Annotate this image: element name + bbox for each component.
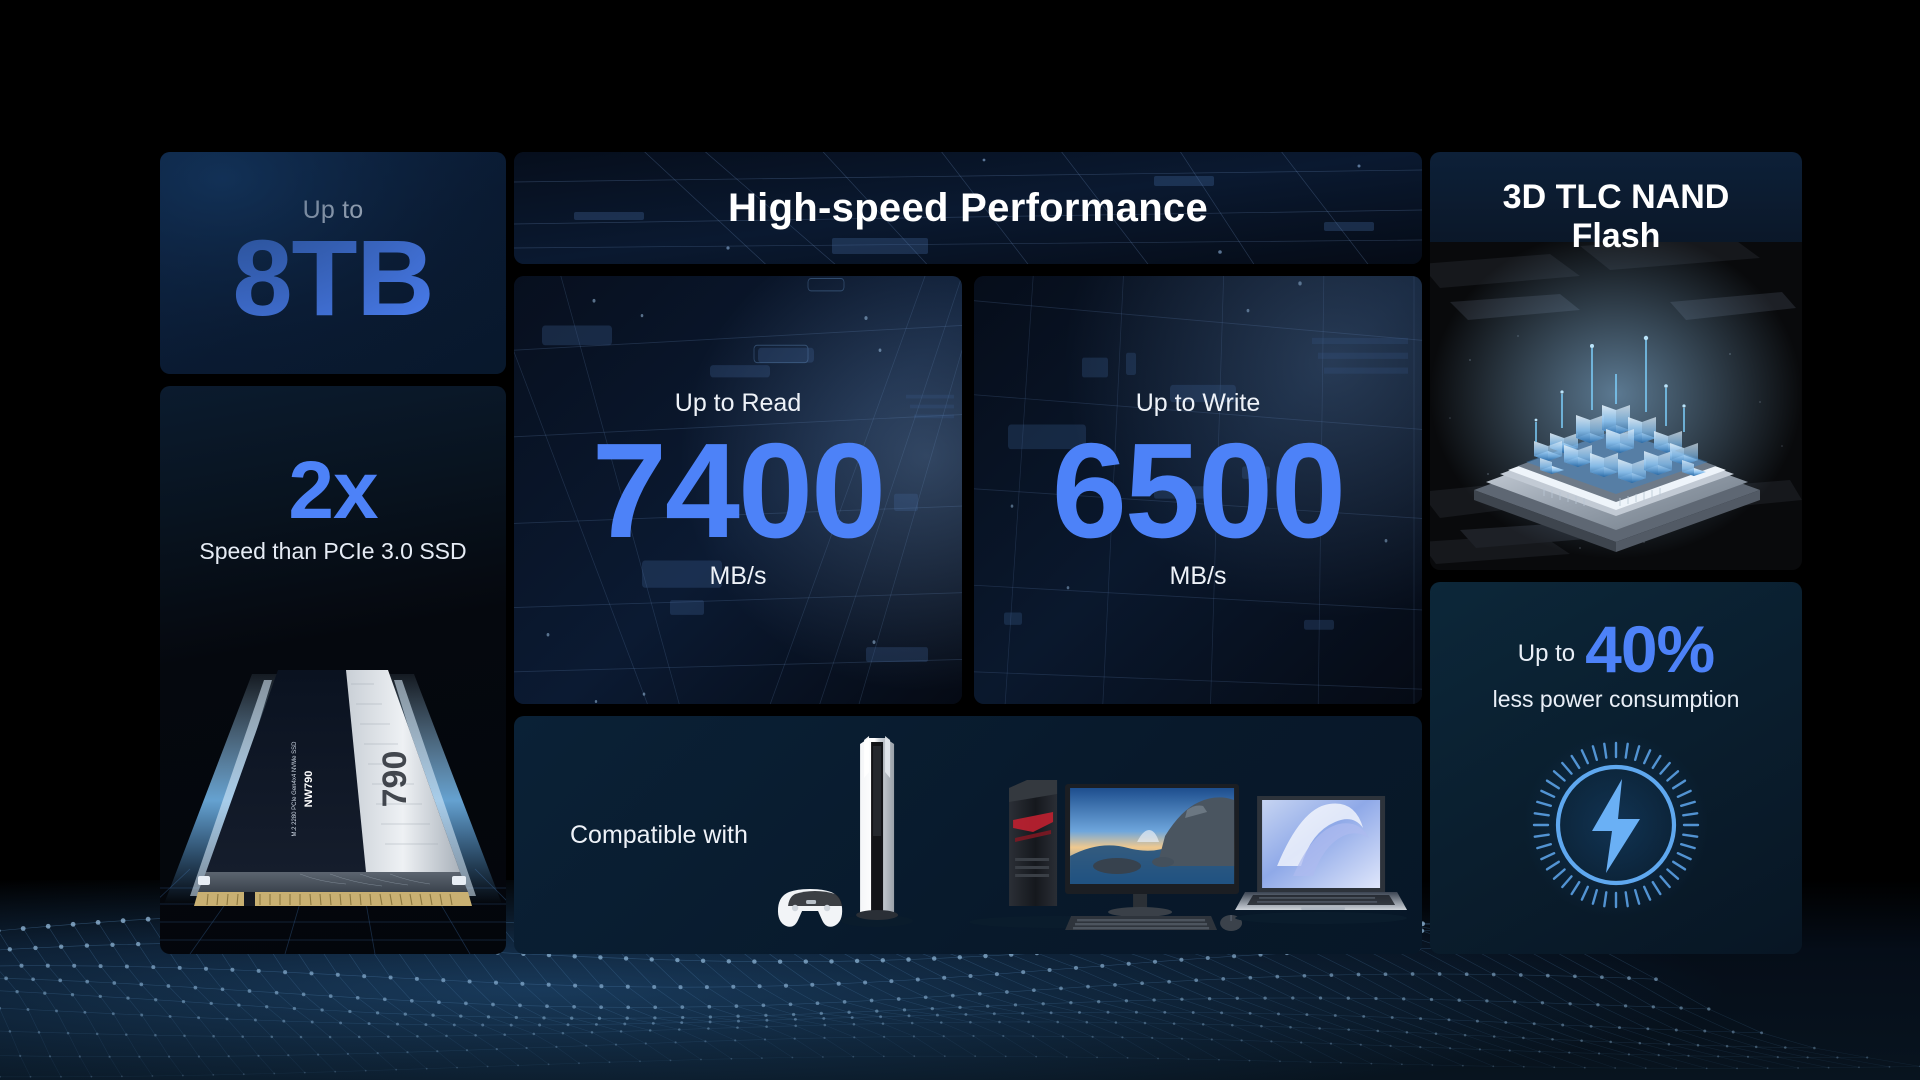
nand-title-line1: 3D TLC NAND [1503, 178, 1730, 216]
power-prefix-label: Up to [1518, 640, 1575, 682]
lightning-bolt-icon [1518, 727, 1714, 923]
feature-grid: Up to 8TB 2x Speed than PCIe 3.0 SSD [160, 152, 1800, 954]
compatible-devices-group [748, 716, 1422, 954]
write-speed-value: 6500 [1052, 422, 1344, 560]
svg-text:790: 790 [376, 751, 414, 808]
capacity-card: Up to 8TB [160, 152, 506, 374]
performance-title: High-speed Performance [728, 186, 1208, 231]
capacity-card-background [160, 152, 506, 374]
performance-title-card: High-speed Performance [514, 152, 1422, 264]
write-speed-unit: MB/s [1170, 562, 1227, 591]
power-value-line: Up to 40% [1518, 616, 1714, 682]
right-column: 3D TLC NAND Flash [1430, 152, 1802, 954]
speed-multiplier-card: 2x Speed than PCIe 3.0 SSD [160, 386, 506, 954]
nand-flash-title: 3D TLC NAND Flash [1430, 152, 1802, 256]
speed-multiplier-caption: Speed than PCIe 3.0 SSD [199, 538, 466, 565]
power-value: 40% [1585, 616, 1714, 682]
compatibility-label: Compatible with [570, 821, 748, 850]
laptop-icon [1235, 796, 1407, 924]
read-speed-label: Up to Read [675, 389, 801, 418]
compatibility-card: Compatible with [514, 716, 1422, 954]
power-consumption-card: Up to 40% less power consumption [1430, 582, 1802, 954]
center-column: High-speed Performance [514, 152, 1422, 954]
nand-flash-card: 3D TLC NAND Flash [1430, 152, 1802, 570]
svg-text:M.2 2280 PCIe Gen4x4 NVMe SSD: M.2 2280 PCIe Gen4x4 NVMe SSD [292, 741, 298, 837]
nand-chip-icon [1430, 242, 1802, 570]
power-caption: less power consumption [1493, 686, 1740, 713]
write-speed-label: Up to Write [1136, 389, 1261, 418]
controller-icon [778, 889, 842, 927]
read-speed-value: 7400 [592, 422, 884, 560]
nand-title-line2: Flash [1572, 217, 1661, 255]
svg-text:NW790: NW790 [303, 771, 315, 808]
speed-multiplier-value: 2x [288, 450, 377, 532]
read-speed-unit: MB/s [710, 562, 767, 591]
desktop-pc-icon [969, 780, 1242, 931]
write-speed-panel: Up to Write 6500 MB/s [974, 276, 1422, 704]
read-speed-panel: Up to Read 7400 MB/s [514, 276, 962, 704]
m2-ssd-image: NW790 M.2 2280 PCIe Gen4x4 NVMe SSD 790 [160, 604, 506, 954]
left-column: Up to 8TB 2x Speed than PCIe 3.0 SSD [160, 152, 506, 954]
game-console-icon [778, 736, 913, 927]
performance-panels-row: Up to Read 7400 MB/s [514, 276, 1422, 704]
